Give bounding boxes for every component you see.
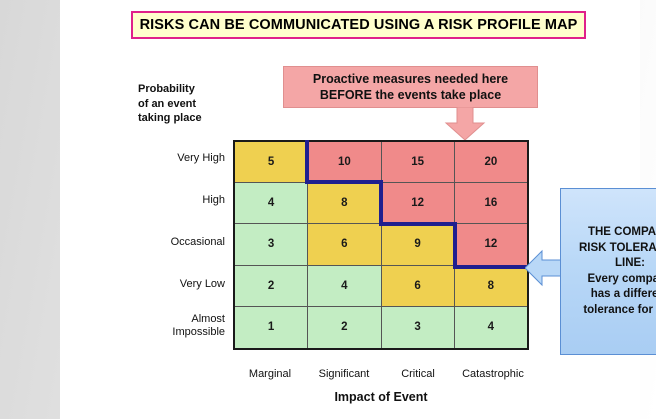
- tolerance-callout-line-4: Every company: [587, 272, 656, 288]
- page-title-banner: RISKS CAN BE COMMUNICATED USING A RISK P…: [131, 11, 586, 39]
- slide-canvas: RISKS CAN BE COMMUNICATED USING A RISK P…: [60, 0, 640, 419]
- matrix-cell-r5c3[interactable]: 3: [382, 307, 455, 348]
- y-axis-title-line-2: of an event: [138, 97, 238, 112]
- matrix-row-almost-impossible: 1 2 3 4: [235, 307, 527, 348]
- row-label-almost-impossible-line-2: Impossible: [120, 326, 225, 339]
- matrix-cell-r1c3[interactable]: 15: [382, 142, 455, 183]
- matrix-cell-r4c4[interactable]: 8: [455, 266, 527, 307]
- row-label-occasional: Occasional: [120, 236, 225, 249]
- row-label-almost-impossible-line-1: Almost: [120, 313, 225, 326]
- y-axis-title: Probability of an event taking place: [138, 82, 238, 126]
- matrix-cell-r4c3[interactable]: 6: [382, 266, 455, 307]
- page-title: RISKS CAN BE COMMUNICATED USING A RISK P…: [140, 17, 578, 33]
- matrix-cell-r4c1[interactable]: 2: [235, 266, 308, 307]
- matrix-row-very-high: 5 10 15 20: [235, 142, 527, 183]
- matrix-cell-r5c4[interactable]: 4: [455, 307, 527, 348]
- matrix-cell-r2c4[interactable]: 16: [455, 183, 527, 224]
- column-label-critical: Critical: [381, 368, 455, 380]
- proactive-callout-line-2: BEFORE the events take place: [320, 87, 501, 103]
- matrix-cell-r3c2[interactable]: 6: [308, 224, 381, 265]
- matrix-cell-r4c2[interactable]: 4: [308, 266, 381, 307]
- matrix-cell-r2c2[interactable]: 8: [308, 183, 381, 224]
- matrix-cell-r1c2[interactable]: 10: [308, 142, 381, 183]
- column-label-marginal: Marginal: [233, 368, 307, 380]
- y-axis-title-line-1: Probability: [138, 82, 238, 97]
- column-label-significant: Significant: [307, 368, 381, 380]
- tolerance-callout-line-5: has a different: [591, 287, 656, 303]
- down-arrow-icon: [443, 107, 487, 141]
- matrix-row-high: 4 8 12 16: [235, 183, 527, 224]
- matrix-cell-r1c1[interactable]: 5: [235, 142, 308, 183]
- row-label-very-high: Very High: [120, 152, 225, 165]
- matrix-cell-r5c2[interactable]: 2: [308, 307, 381, 348]
- proactive-measures-callout: Proactive measures needed here BEFORE th…: [283, 66, 538, 108]
- row-label-very-low: Very Low: [120, 278, 225, 291]
- x-axis-title: Impact of Event: [233, 390, 529, 404]
- risk-tolerance-callout: THE COMPANY RISK TOLERANCE LINE: Every c…: [560, 188, 656, 355]
- matrix-row-very-low: 2 4 6 8: [235, 266, 527, 307]
- matrix-cell-r3c3[interactable]: 9: [382, 224, 455, 265]
- matrix-cell-r1c4[interactable]: 20: [455, 142, 527, 183]
- matrix-cell-r3c4[interactable]: 12: [455, 224, 527, 265]
- matrix-row-occasional: 3 6 9 12: [235, 224, 527, 265]
- proactive-callout-line-1: Proactive measures needed here: [313, 71, 508, 87]
- tolerance-callout-line-3: LINE:: [615, 256, 645, 272]
- column-label-catastrophic: Catastrophic: [453, 368, 533, 380]
- risk-matrix: 5 10 15 20 4 8 12 16 3 6 9 12 2 4 6 8 1 …: [233, 140, 529, 350]
- tolerance-callout-line-1: THE COMPANY: [588, 225, 656, 241]
- matrix-cell-r3c1[interactable]: 3: [235, 224, 308, 265]
- y-axis-title-line-3: taking place: [138, 111, 238, 126]
- matrix-cell-r2c1[interactable]: 4: [235, 183, 308, 224]
- tolerance-callout-line-2: RISK TOLERANCE: [579, 241, 656, 257]
- row-label-high: High: [120, 194, 225, 207]
- tolerance-callout-line-6: tolerance for risk: [583, 303, 656, 319]
- matrix-cell-r2c3[interactable]: 12: [382, 183, 455, 224]
- matrix-cell-r5c1[interactable]: 1: [235, 307, 308, 348]
- row-label-almost-impossible: Almost Impossible: [120, 313, 225, 338]
- left-arrow-icon: [525, 249, 565, 287]
